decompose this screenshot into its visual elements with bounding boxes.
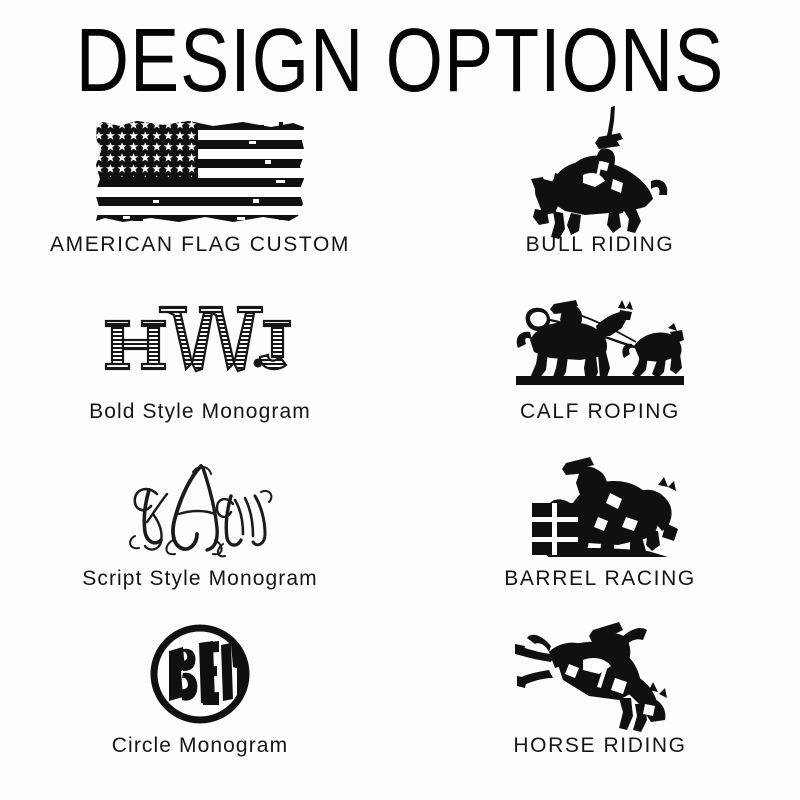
script-style-monogram-icon [105,446,295,568]
option-bold-style-monogram[interactable]: Bold Style Monogram [0,279,400,446]
option-barrel-racing[interactable]: BARREL RACING [400,446,800,613]
option-label: Circle Monogram [112,735,288,756]
option-label: Script Style Monogram [82,568,318,589]
barrel-racing-icon [518,446,683,568]
horse-riding-icon [515,613,685,735]
option-label: CALF ROPING [520,401,680,422]
calf-roping-icon [510,279,690,401]
option-label: Bold Style Monogram [89,401,311,422]
option-bull-riding[interactable]: BULL RIDING [400,112,800,279]
page-title: DESIGN OPTIONS [12,0,788,106]
option-circle-monogram[interactable]: Circle Monogram [0,613,400,780]
option-label: HORSE RIDING [513,735,686,756]
distressed-american-flag-icon [93,112,308,234]
circle-monogram-icon [147,613,253,735]
option-calf-roping[interactable]: CALF ROPING [400,279,800,446]
option-american-flag-custom[interactable]: AMERICAN FLAG CUSTOM [0,112,400,279]
option-script-style-monogram[interactable]: Script Style Monogram [0,446,400,613]
option-label: BULL RIDING [526,234,675,255]
option-label: AMERICAN FLAG CUSTOM [50,234,350,255]
design-options-grid: AMERICAN FLAG CUSTOM [0,112,800,780]
option-horse-riding[interactable]: HORSE RIDING [400,613,800,780]
option-label: BARREL RACING [504,568,696,589]
bold-style-monogram-icon [100,279,300,401]
bull-riding-icon [525,112,675,234]
